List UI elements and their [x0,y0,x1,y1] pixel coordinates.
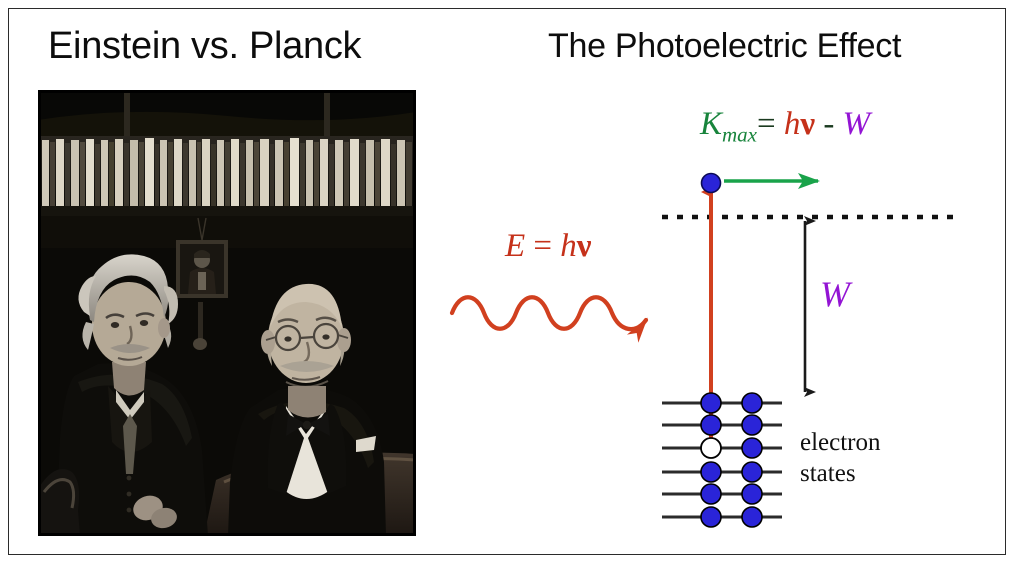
slide-canvas: Einstein vs. Planck The Photoelectric Ef… [0,0,1024,570]
page-title-right: The Photoelectric Effect [548,27,901,66]
electron [701,484,721,504]
energy-level-4 [662,462,782,482]
electron [742,507,762,527]
ejected-electron [702,174,721,193]
electron [742,462,762,482]
energy-level-6 [662,507,782,527]
energy-level-5 [662,484,782,504]
electron [742,393,762,413]
electron [742,438,762,458]
electron [701,415,721,435]
energy-level-stack [662,393,782,527]
photoelectric-diagram [430,80,1006,550]
electron [742,484,762,504]
energy-level-1 [662,393,782,413]
einstein-planck-photo [38,90,416,536]
energy-level-3 [662,438,782,458]
page-title-left: Einstein vs. Planck [48,25,361,68]
electron [701,507,721,527]
photon-wave [452,297,646,329]
electron [701,393,721,413]
vacant-electron-state [701,438,721,458]
energy-level-2 [662,415,782,435]
electron [701,462,721,482]
electron [742,415,762,435]
